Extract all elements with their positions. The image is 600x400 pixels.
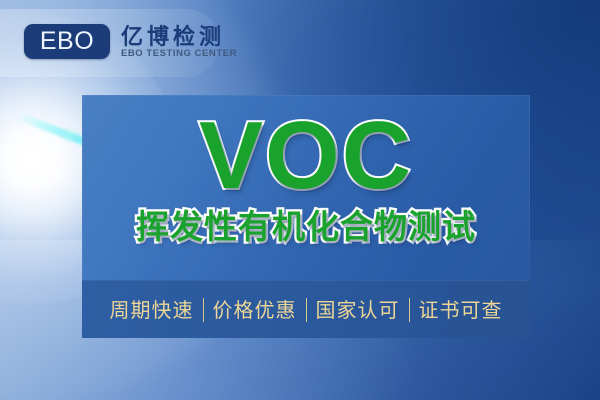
brand-name-en: EBO TESTING CENTER bbox=[121, 49, 237, 59]
brand-name-block: 亿博检测 EBO TESTING CENTER bbox=[121, 25, 237, 59]
ebo-badge-label: EBO bbox=[40, 29, 94, 54]
headline-subtitle: 挥发性有机化合物测试 bbox=[136, 209, 476, 245]
content-panel: VOC 挥发性有机化合物测试 周期快速 价格优惠 国家认可 证书可查 bbox=[82, 95, 530, 338]
feature-band: 周期快速 价格优惠 国家认可 证书可查 bbox=[82, 280, 530, 338]
voc-testing-banner: EBO 亿博检测 EBO TESTING CENTER VOC 挥发性有机化合物… bbox=[0, 0, 600, 400]
ebo-badge-icon: EBO bbox=[24, 24, 110, 59]
headline-block: VOC 挥发性有机化合物测试 bbox=[82, 95, 530, 281]
headline-voc: VOC bbox=[199, 105, 413, 207]
feature-item-2: 价格优惠 bbox=[204, 300, 306, 320]
feature-separator-2 bbox=[306, 298, 307, 322]
brand-logo[interactable]: EBO 亿博检测 EBO TESTING CENTER bbox=[24, 24, 237, 59]
feature-item-3: 国家认可 bbox=[307, 300, 409, 320]
feature-item-4: 证书可查 bbox=[410, 300, 512, 320]
feature-separator-3 bbox=[409, 298, 410, 322]
feature-separator-1 bbox=[203, 298, 204, 322]
feature-item-1: 周期快速 bbox=[101, 300, 203, 320]
brand-name-cn: 亿博检测 bbox=[121, 25, 237, 48]
lens-flare-small-orb bbox=[60, 128, 80, 142]
